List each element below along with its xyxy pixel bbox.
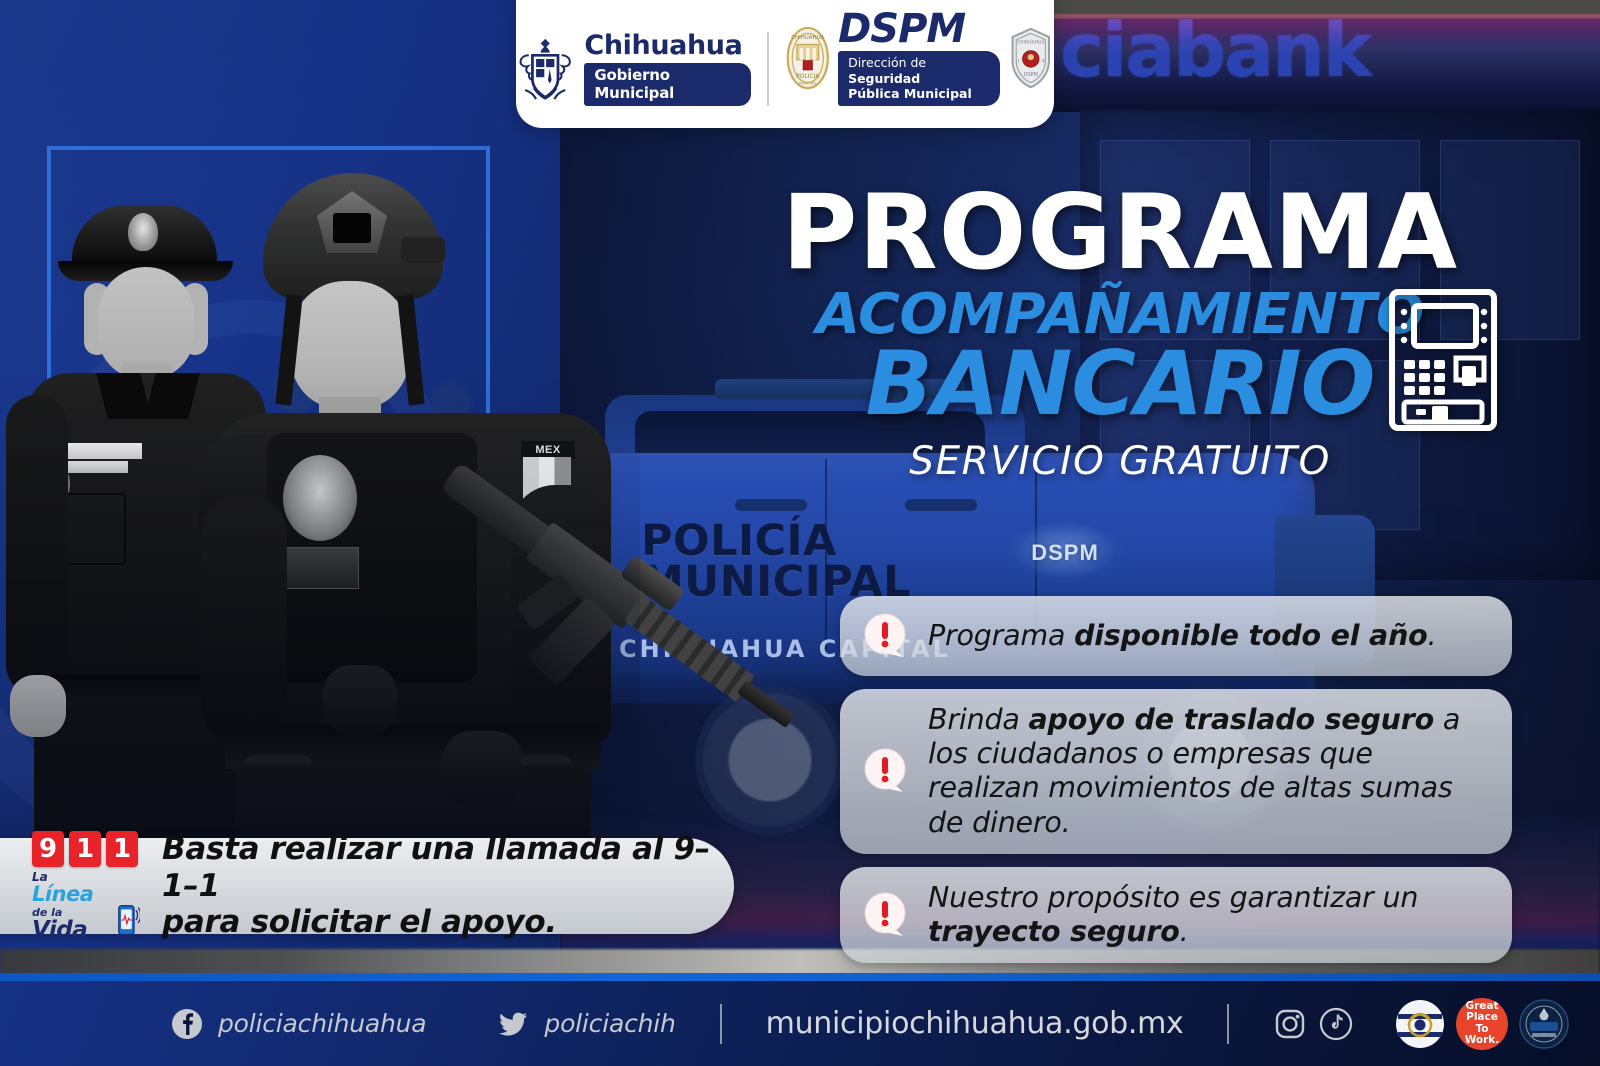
tiktok-icon[interactable] (1319, 1007, 1353, 1041)
calea-accreditation-badge-icon (1394, 998, 1446, 1050)
truck-dspm-emblem: DSPM (1005, 523, 1125, 583)
footer-separator (720, 1004, 722, 1044)
footer-accent-bar (0, 973, 1600, 981)
poster-canvas: ciabank POLICÍA MUNICIPAL CHIHUAHUA CAPI… (0, 0, 1600, 1066)
gptw-line: Work. (1465, 1035, 1500, 1046)
911-digit: 1 (69, 831, 101, 867)
911-tagline: La Línea de la Vida (32, 870, 140, 940)
911-digit: 9 (32, 831, 64, 867)
svg-text:I: I (1018, 59, 1019, 65)
truck-decal-line1: POLICÍA (641, 521, 911, 562)
dspm-logo: CHIHUAHUA POLICIA MUNICIPAL DSPM Direcci… (785, 10, 1054, 106)
benefit-card-text: Nuestro propósito es garantizar un traye… (928, 881, 1486, 949)
helmet-side-rail (401, 237, 445, 263)
municipality-wordmark: Chihuahua Gobierno Municipal (584, 32, 750, 106)
benefit-cards-list: Programa disponible todo el año. Brinda … (840, 596, 1512, 976)
911-tagline-text: La Línea de la Vida (32, 870, 113, 940)
callout-line2: para solicitar el apoyo. (162, 904, 734, 941)
headline-servicio-gratuito: SERVICIO GRATUITO (720, 439, 1520, 484)
facebook-handle: policiachihuahua (218, 1009, 426, 1038)
officer-face (291, 281, 409, 409)
dspm-subtitle-line2: Pública Municipal (848, 86, 972, 101)
officers-photo-group: MEX (0, 165, 640, 865)
nvg-mount-slot (333, 213, 371, 243)
footer-bar: policiachihuahua policiachih municipioch… (0, 981, 1600, 1066)
benefit-card-text: Brinda apoyo de traslado seguro a los ci… (928, 703, 1486, 840)
text-part: Brinda (928, 703, 1028, 736)
certification-seal-badge-icon (1518, 998, 1570, 1050)
officer-glove (443, 731, 523, 805)
vest-id-label (281, 547, 359, 589)
text-part: Programa (928, 619, 1074, 652)
cap-badge-icon (128, 213, 158, 251)
bank-storefront-sign: ciabank (1040, 0, 1600, 112)
svg-text:MUNICIPAL: MUNICIPAL (798, 82, 816, 86)
municipality-subtitle: Gobierno Municipal (584, 63, 750, 106)
dspm-wordmark: DSPM Dirección de Seguridad Pública Muni… (838, 10, 1000, 106)
vest-unit-patch-icon (283, 455, 357, 541)
text-part: Nuestro propósito es garantizar un (928, 881, 1418, 914)
officer-hand (10, 675, 66, 737)
exclamation-bubble-icon (860, 610, 912, 662)
dspm-subtitle-prefix: Dirección de (848, 55, 926, 70)
benefit-card: Programa disponible todo el año. (840, 596, 1512, 676)
truck-door-handle (735, 499, 807, 511)
text-part-bold: trayecto seguro (928, 915, 1180, 948)
text-part: . (1180, 915, 1189, 948)
bank-sign-glow (1040, 14, 1600, 54)
911-digits: 9 1 1 (32, 831, 140, 867)
website-url[interactable]: municipiochihuahua.gob.mx (766, 1006, 1184, 1041)
truck-door-handle (905, 499, 977, 511)
footer-content: policiachihuahua policiachih municipioch… (0, 998, 1600, 1050)
tagline-linea: Línea (32, 885, 93, 904)
dspm-acronym: DSPM (838, 10, 965, 48)
svg-text:POLICIA: POLICIA (796, 74, 819, 80)
svg-text:CHIHUAHUA: CHIHUAHUA (791, 35, 824, 41)
logo-divider (767, 32, 769, 106)
policia-gold-badge-icon: CHIHUAHUA POLICIA MUNICIPAL (785, 23, 831, 93)
facebook-icon (170, 1007, 204, 1041)
atm-machine-icon (1388, 288, 1498, 432)
benefit-card-text: Programa disponible todo el año. (928, 619, 1436, 653)
great-place-to-work-badge-icon: Great Place To Work. (1456, 998, 1508, 1050)
municipality-logo: Chihuahua Gobierno Municipal (516, 32, 751, 106)
header-logo-panel: Chihuahua Gobierno Municipal CHIHUAHUA P… (516, 0, 1054, 128)
svg-text:CHIHUAHUA: CHIHUAHUA (1017, 40, 1046, 46)
footer-separator (1227, 1004, 1229, 1044)
dspm-subtitle: Dirección de Seguridad Pública Municipal (838, 51, 1000, 106)
text-part-bold: apoyo de traslado seguro (1028, 703, 1434, 736)
mobile-phone-pulse-icon (117, 901, 140, 941)
benefit-card: Nuestro propósito es garantizar un traye… (840, 867, 1512, 963)
footer-social-icons (1273, 1007, 1353, 1041)
tagline-vida: Vida (32, 920, 87, 941)
twitter-handle: policiachih (544, 1009, 675, 1038)
911-digit: 1 (106, 831, 138, 867)
text-part: . (1428, 619, 1437, 652)
benefit-card: Brinda apoyo de traslado seguro a los ci… (840, 689, 1512, 854)
callout-line1: Basta realizar una llamada al 9–1–1 (162, 831, 734, 904)
instagram-icon[interactable] (1273, 1007, 1307, 1041)
officer-arm (6, 395, 68, 695)
footer-twitter[interactable]: policiachih (496, 1007, 675, 1041)
tactical-police-officer: MEX (205, 165, 625, 885)
exclamation-bubble-icon (860, 745, 912, 797)
exclamation-bubble-icon (860, 889, 912, 941)
officer-glove (323, 665, 397, 735)
municipality-name: Chihuahua (584, 32, 742, 59)
footer-certification-badges: Great Place To Work. (1394, 998, 1570, 1050)
emergency-callout-banner: 9 1 1 La Línea de la Vida (0, 838, 734, 934)
headline-block: PROGRAMA ACOMPAÑAMIENTO BANCARIO SERVICI… (720, 186, 1520, 484)
svg-text:DSPM: DSPM (1024, 72, 1038, 78)
headline-programa: PROGRAMA (720, 186, 1520, 281)
svg-text:X: X (1042, 59, 1045, 65)
gptw-line: To (1476, 1024, 1489, 1035)
dspm-silver-badge-icon: CHIHUAHUA I X DSPM (1008, 23, 1054, 93)
text-part-bold: disponible todo el año (1074, 619, 1427, 652)
emergency-callout-text: Basta realizar una llamada al 9–1–1 para… (162, 831, 734, 941)
chihuahua-coat-of-arms-icon (516, 32, 574, 106)
footer-facebook[interactable]: policiachihuahua (170, 1007, 426, 1041)
dspm-subtitle-bold: Seguridad (848, 71, 920, 86)
gptw-line: Place (1466, 1012, 1498, 1023)
twitter-bird-icon (496, 1007, 530, 1041)
911-logo: 9 1 1 La Línea de la Vida (32, 831, 140, 940)
officer-arm (201, 495, 287, 745)
